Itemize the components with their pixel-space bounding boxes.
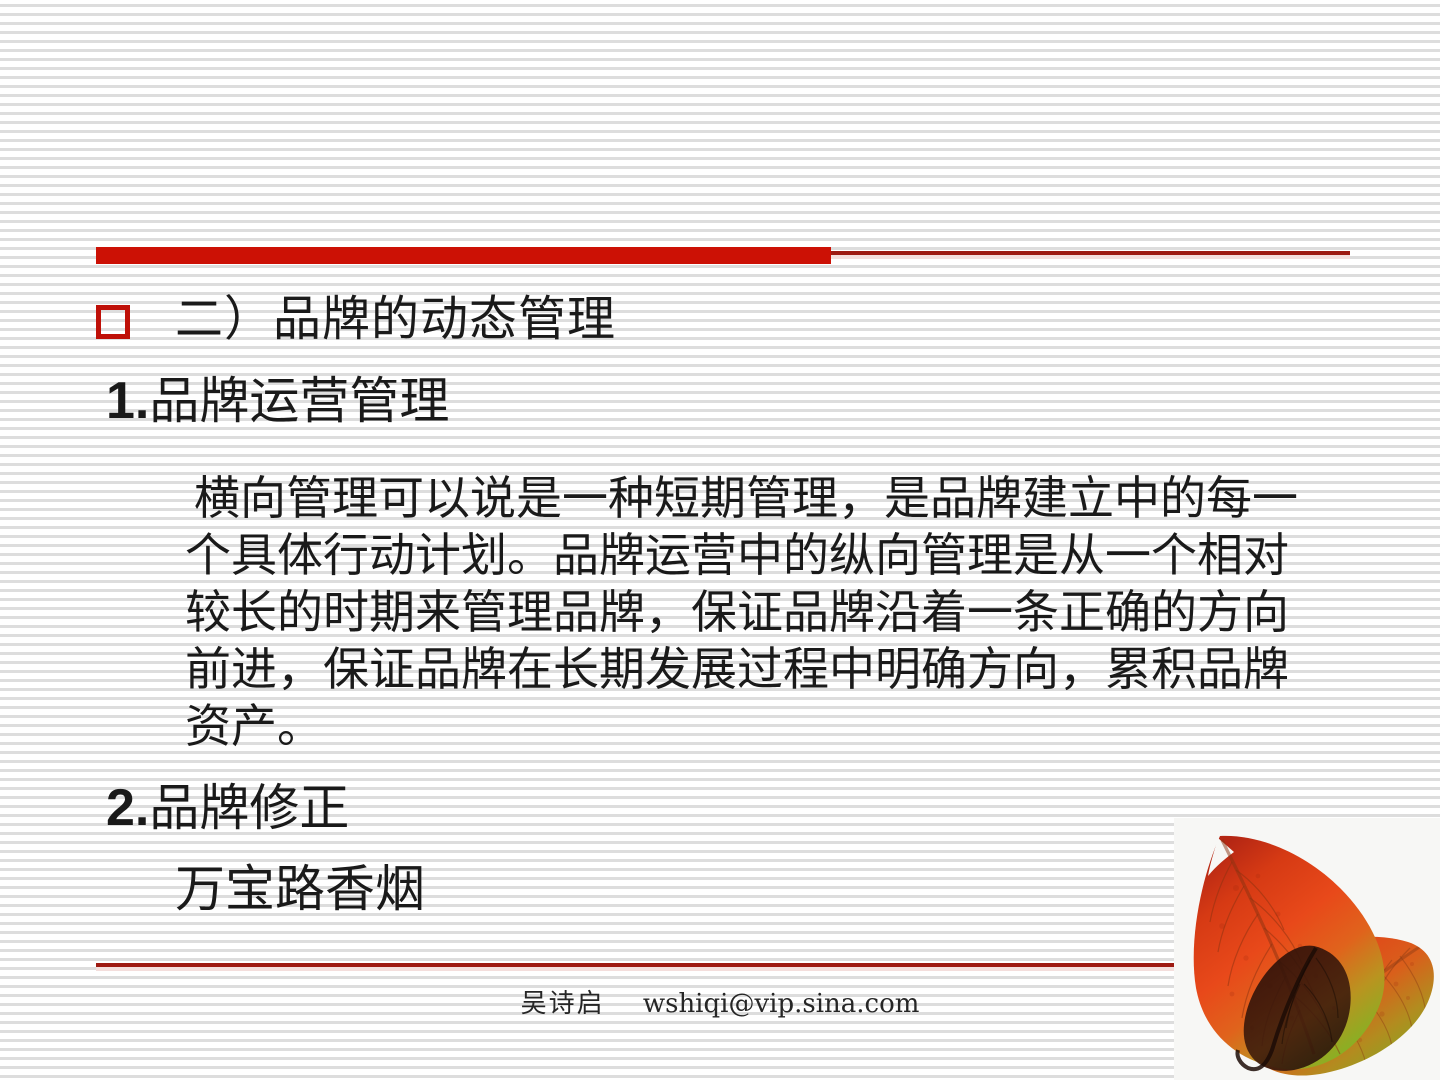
square-outline-icon [96,305,130,339]
heading-accent-bar [96,247,831,264]
section-title-2: 品牌修正 [149,779,349,837]
section-title-1: 品牌运营管理 [149,372,449,430]
footer-author: 吴诗启 [521,989,605,1019]
footer-rule-highlight [96,967,1271,971]
slide-canvas: 二）品牌的动态管理 1. 品牌运营管理 横向管理可以说是一种短期管理，是品牌建立… [0,0,1440,1080]
section-body-1: 横向管理可以说是一种短期管理，是品牌建立中的每一个具体行动计划。品牌运营中的纵向… [185,470,1315,755]
autumn-leaves-icon [1174,818,1440,1080]
page-title: 二）品牌的动态管理 [175,291,616,347]
section-body-2: 万宝路香烟 [175,860,425,918]
section-number-2: 2. [106,779,149,837]
section-heading-2: 2. 品牌修正 [106,779,349,837]
section-number-1: 1. [106,372,149,430]
section-heading-1: 1. 品牌运营管理 [106,372,449,430]
footer-email: wshiqi@vip.sina.com [643,989,920,1019]
slide-heading: 二）品牌的动态管理 [96,283,1346,355]
